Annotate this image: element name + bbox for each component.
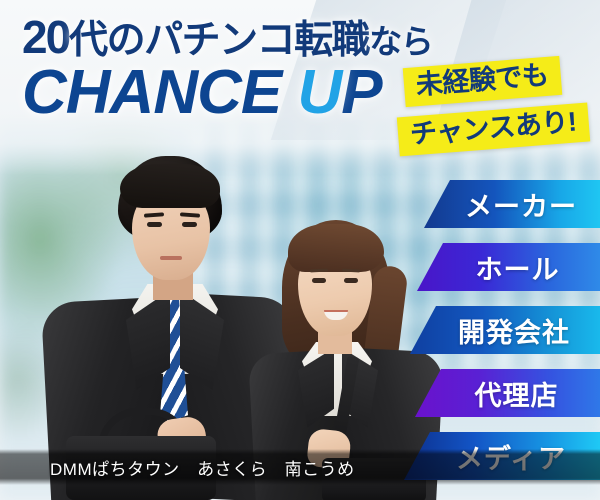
category-button-developer[interactable]: 開発会社 [410,306,600,354]
female-eye-left [312,278,326,283]
person-female [250,210,440,500]
logo-chance-text: CHANCE [22,58,297,127]
logo-chance-up: CHANCE UP [22,62,382,124]
person-male [40,150,280,500]
male-mouth [160,256,182,260]
male-fringe [120,164,220,208]
people-photo [0,150,420,500]
logo-u-letter: U [297,62,341,124]
logo-p-letter: P [341,58,381,127]
headline-main: 代のパチンコ転職 [69,19,369,62]
headline-tail: なら [369,23,432,60]
headline: 20代のパチンコ転職なら [22,14,432,60]
male-eye-left [147,222,162,227]
advertisement-banner[interactable]: 20代のパチンコ転職なら CHANCE UP 未経験でも チャンスあり! メーカ… [0,0,600,500]
female-eye-right [344,278,358,283]
male-briefcase [66,436,216,500]
male-eye-right [182,222,197,227]
category-button-media[interactable]: メディア [404,432,600,480]
category-button-hall[interactable]: ホール [417,243,600,291]
category-button-maker[interactable]: メーカー [424,180,600,228]
headline-number: 20 [22,11,69,63]
female-fringe [288,224,384,272]
category-button-agency[interactable]: 代理店 [415,369,600,417]
